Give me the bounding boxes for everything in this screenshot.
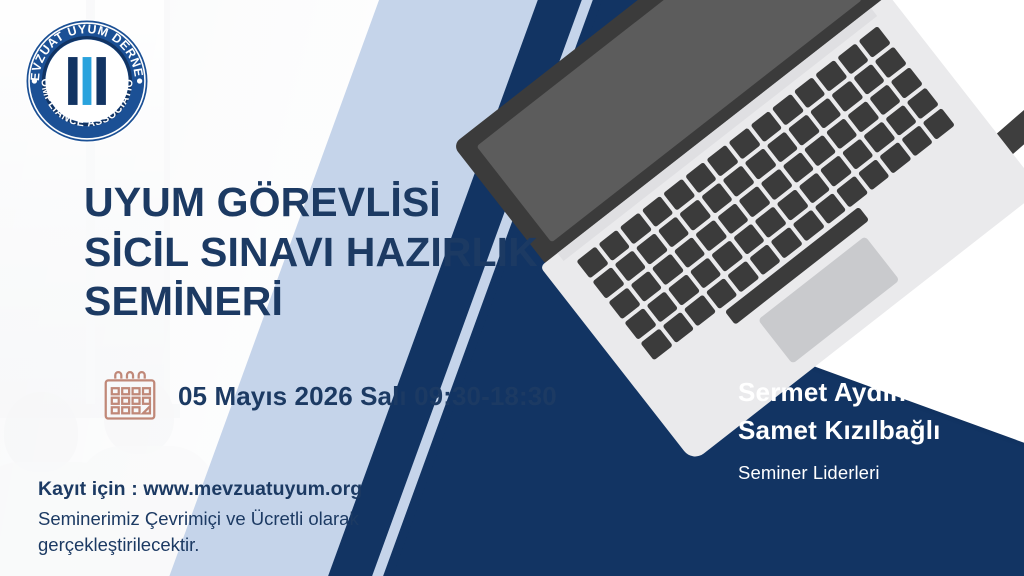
registration-line[interactable]: Kayıt için : www.mevzuatuyum.org xyxy=(38,478,458,501)
speaker-name-2: Samet Kızılbağlı xyxy=(738,412,1008,450)
seminar-note-line-1: Seminerimiz Çevrimiçi ve Ücretli olarak xyxy=(38,506,458,532)
page-title: UYUM GÖREVLİSİ SİCİL SINAVI HAZIRLIK SEM… xyxy=(84,178,554,327)
page-title-line-2: SİCİL SINAVI HAZIRLIK xyxy=(84,228,554,278)
page-title-line-3: SEMİNERİ xyxy=(84,277,554,327)
calendar-icon xyxy=(104,368,156,424)
speakers-role-label: Seminer Liderleri xyxy=(738,462,1008,484)
event-date-text: 05 Mayıs 2026 Salı 09:30-18:30 xyxy=(178,381,557,412)
speakers-block: Sermet Aydın Samet Kızılbağlı Seminer Li… xyxy=(738,374,1008,484)
registration-info: Kayıt için : www.mevzuatuyum.org Seminer… xyxy=(38,478,458,559)
seminar-note-line-2: gerçekleştirilecektir. xyxy=(38,532,458,558)
seminar-poster: MEVZUAT UYUM DERNEĞİ COMPLIANCE ASSOCIAT… xyxy=(0,0,1024,576)
speaker-name-1: Sermet Aydın xyxy=(738,374,1008,412)
event-date-row: 05 Mayıs 2026 Salı 09:30-18:30 xyxy=(104,368,557,424)
page-title-line-1: UYUM GÖREVLİSİ xyxy=(84,178,554,228)
compliance-association-logo: MEVZUAT UYUM DERNEĞİ COMPLIANCE ASSOCIAT… xyxy=(24,18,150,144)
seminar-note: Seminerimiz Çevrimiçi ve Ücretli olarak … xyxy=(38,506,458,559)
